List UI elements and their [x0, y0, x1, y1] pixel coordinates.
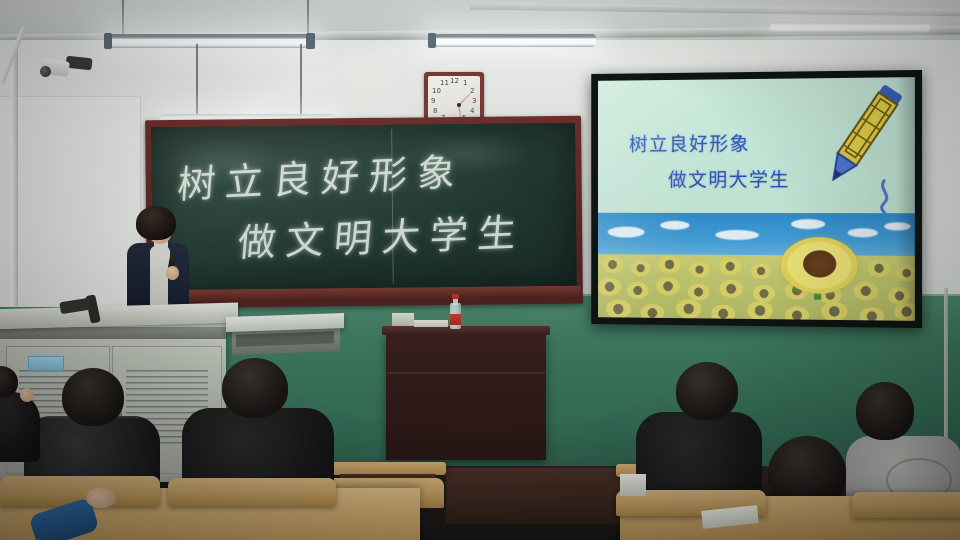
- fluorescent-tube-light: [106, 34, 314, 48]
- teacher-hand: [166, 266, 179, 280]
- light-suspension-wire: [196, 44, 198, 116]
- cloud: [791, 219, 825, 229]
- slide-text-line-1: 树立良好形象: [629, 129, 750, 156]
- tube-light-end-cap: [104, 33, 112, 49]
- pencil-icon: [817, 77, 911, 215]
- bench-backrest: [168, 478, 336, 506]
- sunflower-center: [803, 250, 836, 277]
- photo-sunflower-field: [598, 254, 915, 321]
- clock-center-pin: [457, 103, 461, 107]
- slide-photo-sunflower-field: [598, 213, 915, 321]
- water-bottle-neck: [453, 298, 458, 305]
- cloud: [715, 230, 759, 240]
- bench-backrest: [852, 492, 960, 518]
- student-head: [62, 368, 124, 426]
- clock-number: 4: [470, 107, 474, 115]
- student-hand: [20, 388, 34, 402]
- light-suspension-wire: [300, 44, 302, 118]
- classroom-photo: 12 1 2 3 4 5 6 7 8 9 10 11 树立良好形象 做文明大学生: [0, 0, 960, 540]
- clock-number: 10: [432, 87, 441, 95]
- wall-pipe: [11, 44, 18, 306]
- cabinet-rail: [0, 327, 226, 339]
- light-suspension-wire: [307, 0, 309, 36]
- tube-light-end-cap: [306, 33, 315, 49]
- lectern-top-surface: [382, 326, 550, 335]
- student-jacket: [0, 392, 40, 462]
- student-head: [856, 382, 914, 440]
- light-suspension-wire: [122, 0, 124, 36]
- fluorescent-tube-light: [770, 22, 930, 33]
- desk-base: [446, 468, 626, 524]
- projection-screen: 树立良好形象 做文明大学生: [591, 70, 922, 328]
- student-head: [222, 358, 288, 418]
- lectern: [386, 332, 546, 460]
- clock-number: 8: [433, 107, 437, 115]
- clock-number: 9: [431, 97, 435, 105]
- teacher-hair: [136, 206, 176, 240]
- tube-light-end-cap: [428, 33, 436, 48]
- water-bottle-cap: [452, 294, 459, 299]
- slide-text-line-2: 做文明大学生: [668, 165, 790, 192]
- cloud: [608, 227, 645, 238]
- clock-number: 1: [463, 79, 467, 87]
- lectern-seam: [386, 372, 546, 374]
- papers-on-lectern: [414, 320, 448, 327]
- left-wall-panel: [0, 96, 141, 307]
- clock-number: 11: [440, 79, 449, 87]
- clock-number: 3: [472, 97, 476, 105]
- blackboard-surface: 树立良好形象 做文明大学生: [151, 123, 577, 290]
- box-on-lectern: [392, 313, 414, 326]
- paper-on-desk: [620, 474, 646, 496]
- projected-slide: 树立良好形象 做文明大学生: [598, 77, 915, 321]
- clock-number: 12: [450, 77, 459, 85]
- cloud: [884, 222, 911, 230]
- blackboard-text-line-2: 做文明大学生: [236, 201, 529, 267]
- blackboard: 树立良好形象 做文明大学生: [145, 116, 583, 309]
- cloud: [847, 228, 878, 237]
- cloud: [660, 221, 689, 230]
- fluorescent-tube-light: [430, 34, 596, 47]
- water-bottle-label: [450, 314, 461, 325]
- photo-sky: [598, 213, 915, 260]
- student-hand: [86, 488, 116, 508]
- cabinet-label-sticker: [28, 356, 64, 371]
- student-head: [676, 362, 738, 420]
- blackboard-text-line-1: 树立良好形象: [176, 141, 468, 209]
- camera-lens-icon: [40, 66, 51, 77]
